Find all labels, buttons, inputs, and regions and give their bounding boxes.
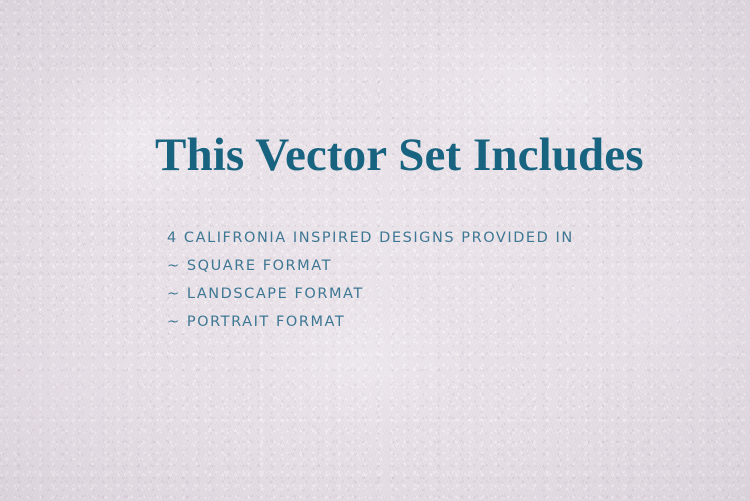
list-item: 4 CALIFRONIA INSPIRED DESIGNS PROVIDED I… (167, 224, 574, 252)
format-list: 4 CALIFRONIA INSPIRED DESIGNS PROVIDED I… (167, 224, 574, 336)
slide-canvas: This Vector Set Includes 4 CALIFRONIA IN… (0, 0, 750, 501)
list-item: ~ LANDSCAPE FORMAT (167, 280, 574, 308)
list-item: ~ SQUARE FORMAT (167, 252, 574, 280)
slide-content: This Vector Set Includes 4 CALIFRONIA IN… (0, 0, 750, 501)
list-item: ~ PORTRAIT FORMAT (167, 308, 574, 336)
page-title: This Vector Set Includes (155, 126, 615, 184)
